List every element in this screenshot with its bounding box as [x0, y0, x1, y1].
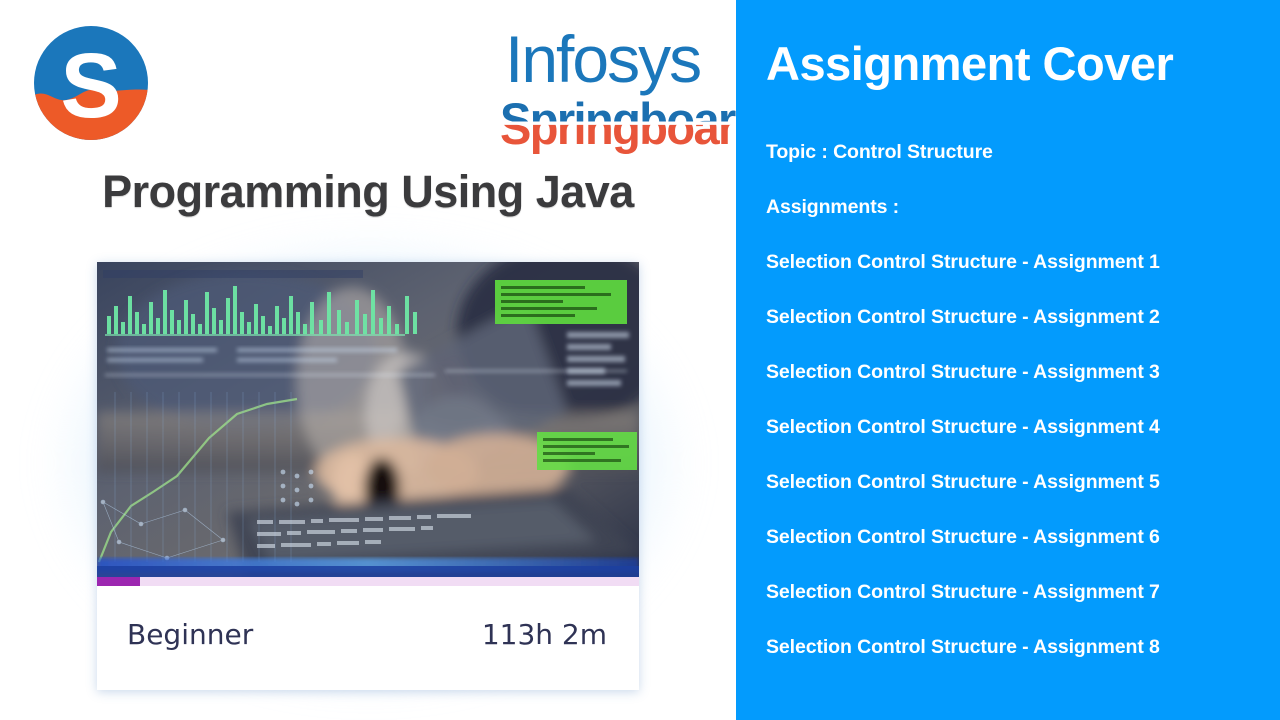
course-card[interactable]: Beginner 113h 2m — [97, 262, 639, 690]
list-item: Selection Control Structure - Assignment… — [766, 303, 1266, 358]
course-duration-label: 113h 2m — [482, 618, 607, 651]
course-level-label: Beginner — [127, 618, 253, 651]
list-item: Selection Control Structure - Assignment… — [766, 523, 1266, 578]
slide-canvas: S Infosys Springboard Springboard Progra… — [0, 0, 1280, 720]
infosys-springboard-wordmark: Infosys Springboard Springboard — [500, 22, 722, 152]
course-progress-fill — [97, 577, 140, 586]
svg-text:S: S — [60, 35, 121, 137]
assignments-label: Assignments : — [766, 193, 1266, 248]
left-white-panel: S Infosys Springboard Springboard Progra… — [0, 0, 736, 720]
list-item: Selection Control Structure - Assignment… — [766, 248, 1266, 303]
springboard-word: Springboard Springboard — [500, 94, 722, 150]
topic-line: Topic : Control Structure — [766, 138, 1266, 193]
course-progress-bar — [97, 577, 639, 586]
assignment-details-list: Topic : Control Structure Assignments : … — [766, 138, 1266, 688]
list-item: Selection Control Structure - Assignment… — [766, 468, 1266, 523]
list-item: Selection Control Structure - Assignment… — [766, 578, 1266, 633]
course-card-footer: Beginner 113h 2m — [97, 586, 639, 690]
right-blue-panel: Assignment Cover Topic : Control Structu… — [736, 0, 1280, 720]
infosys-word: Infosys — [505, 22, 700, 96]
course-thumbnail-image — [97, 262, 639, 577]
list-item: Selection Control Structure - Assignment… — [766, 358, 1266, 413]
page-title: Assignment Cover — [766, 36, 1173, 91]
list-item: Selection Control Structure - Assignment… — [766, 633, 1266, 688]
springboard-s-logo-icon: S — [32, 24, 150, 142]
list-item: Selection Control Structure - Assignment… — [766, 413, 1266, 468]
